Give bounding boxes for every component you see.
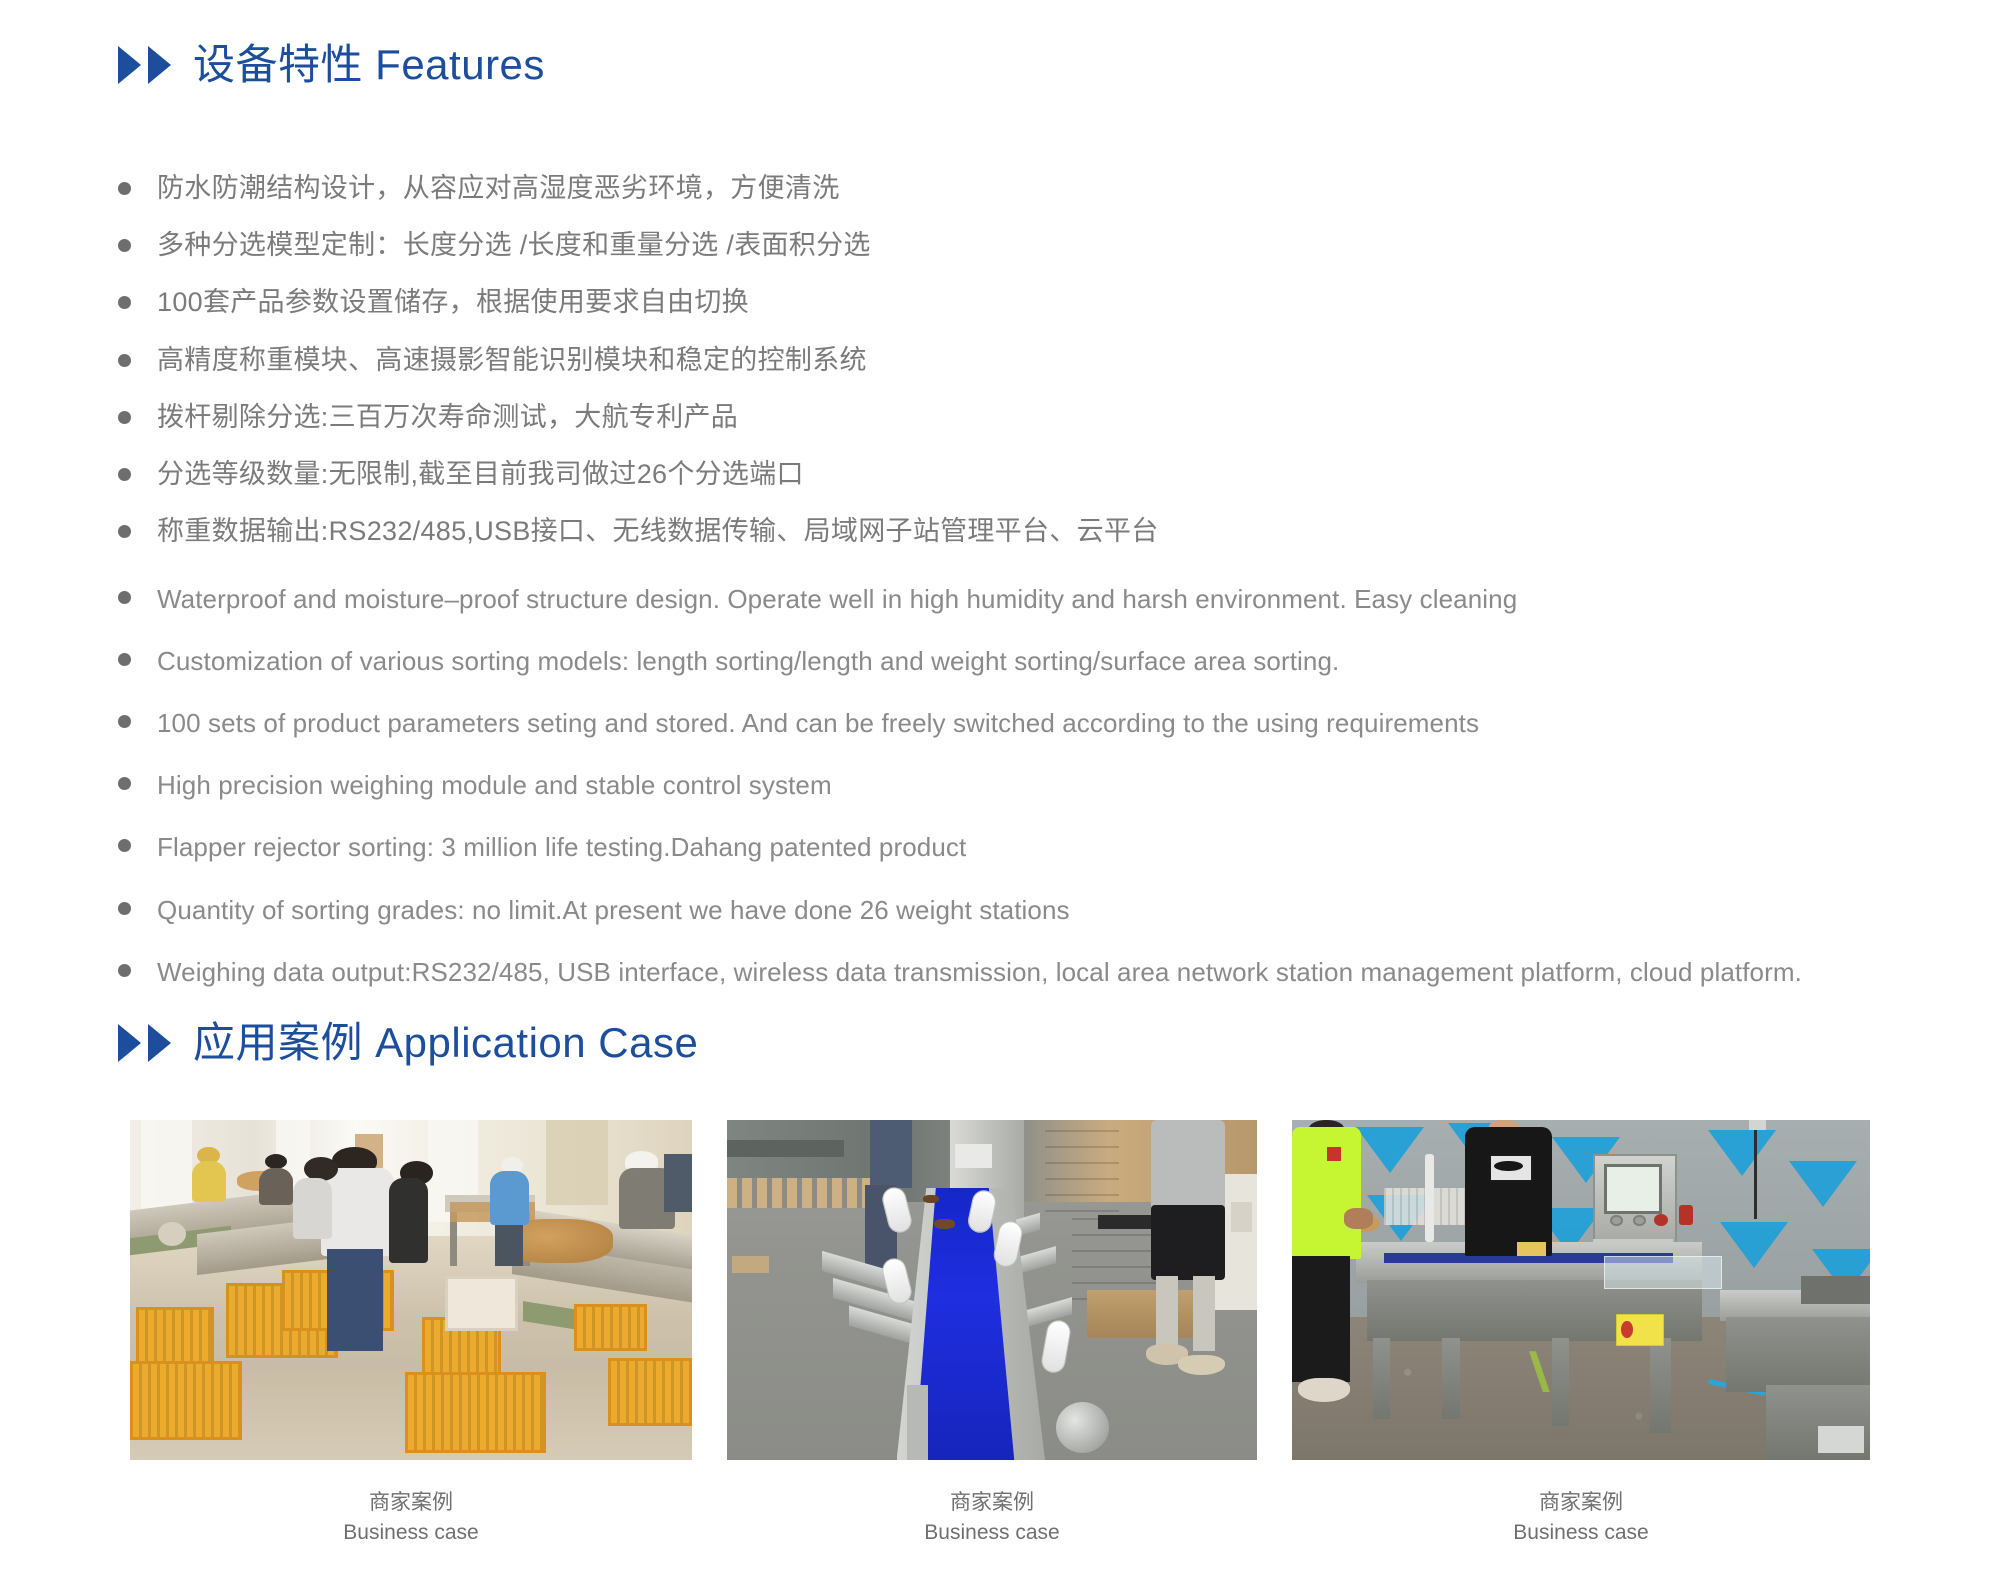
list-item: 分选等级数量:无限制,截至目前我司做过26个分选端口 (118, 456, 1518, 492)
list-item: 100 sets of product parameters seting an… (118, 702, 1808, 744)
bullet-dot-icon (118, 239, 131, 252)
list-item: 100套产品参数设置储存，根据使用要求自由切换 (118, 284, 1518, 320)
case-card[interactable]: 商家案例 Business case (1292, 1120, 1870, 1549)
double-triangle-right-icon (118, 1024, 171, 1062)
list-item: Quantity of sorting grades: no limit.At … (118, 889, 1808, 931)
list-item: 高精度称重模块、高速摄影智能识别模块和稳定的控制系统 (118, 342, 1518, 378)
list-item-label: 100 sets of product parameters seting an… (157, 702, 1808, 744)
bullet-dot-icon (118, 653, 131, 666)
list-item: High precision weighing module and stabl… (118, 764, 1808, 806)
bullet-dot-icon (118, 902, 131, 915)
double-triangle-right-icon (118, 46, 171, 84)
list-item-label: 高精度称重模块、高速摄影智能识别模块和稳定的控制系统 (157, 342, 1518, 378)
list-item: Customization of various sorting models:… (118, 640, 1808, 682)
case-photo-blue-conveyor[interactable] (727, 1120, 1257, 1460)
features-section-heading: 设备特性 Features (118, 44, 545, 86)
bullet-dot-icon (118, 591, 131, 604)
case-photo-steel-sorter[interactable] (1292, 1120, 1870, 1460)
bullet-dot-icon (118, 296, 131, 309)
list-item-label: Flapper rejector sorting: 3 million life… (157, 826, 1808, 868)
list-item: 防水防潮结构设计，从容应对高湿度恶劣环境，方便清洗 (118, 170, 1518, 206)
bullet-dot-icon (118, 411, 131, 424)
application-case-title-text: 应用案例 Application Case (193, 1022, 698, 1064)
case-caption: 商家案例 Business case (343, 1488, 478, 1549)
bullet-dot-icon (118, 354, 131, 367)
case-caption-cn: 商家案例 (924, 1488, 1059, 1518)
list-item-label: Quantity of sorting grades: no limit.At … (157, 889, 1808, 931)
list-item: Weighing data output:RS232/485, USB inte… (118, 951, 1808, 993)
case-caption-cn: 商家案例 (343, 1488, 478, 1518)
list-item: Flapper rejector sorting: 3 million life… (118, 826, 1808, 868)
list-item-label: 分选等级数量:无限制,截至目前我司做过26个分选端口 (157, 456, 1518, 492)
bullet-dot-icon (118, 839, 131, 852)
bullet-dot-icon (118, 715, 131, 728)
features-chinese-bullet-list: 防水防潮结构设计，从容应对高湿度恶劣环境，方便清洗 多种分选模型定制：长度分选 … (118, 170, 1518, 570)
application-case-gallery: 商家案例 Business case (130, 1120, 1870, 1549)
case-caption-cn: 商家案例 (1513, 1488, 1648, 1518)
case-caption-en: Business case (1513, 1518, 1648, 1548)
list-item: Waterproof and moisture–proof structure … (118, 578, 1808, 620)
case-caption: 商家案例 Business case (924, 1488, 1059, 1549)
case-caption-en: Business case (924, 1518, 1059, 1548)
list-item: 多种分选模型定制：长度分选 /长度和重量分选 /表面积分选 (118, 227, 1518, 263)
case-caption: 商家案例 Business case (1513, 1488, 1648, 1549)
list-item-label: 多种分选模型定制：长度分选 /长度和重量分选 /表面积分选 (157, 227, 1518, 263)
list-item-label: 防水防潮结构设计，从容应对高湿度恶劣环境，方便清洗 (157, 170, 1518, 206)
features-title-text: 设备特性 Features (193, 44, 545, 86)
application-case-section-heading: 应用案例 Application Case (118, 1022, 698, 1064)
features-english-bullet-list: Waterproof and moisture–proof structure … (118, 578, 1808, 1013)
list-item-label: High precision weighing module and stabl… (157, 764, 1808, 806)
bullet-dot-icon (118, 182, 131, 195)
list-item-label: Customization of various sorting models:… (157, 640, 1808, 682)
bullet-dot-icon (118, 777, 131, 790)
list-item-label: 拨杆剔除分选:三百万次寿命测试，大航专利产品 (157, 399, 1518, 435)
bullet-dot-icon (118, 525, 131, 538)
case-caption-en: Business case (343, 1518, 478, 1548)
list-item-label: Weighing data output:RS232/485, USB inte… (157, 951, 1808, 993)
list-item-label: 称重数据输出:RS232/485,USB接口、无线数据传输、局域网子站管理平台、… (157, 513, 1518, 549)
bullet-dot-icon (118, 964, 131, 977)
list-item-label: Waterproof and moisture–proof structure … (157, 578, 1808, 620)
list-item-label: 100套产品参数设置储存，根据使用要求自由切换 (157, 284, 1518, 320)
list-item: 拨杆剔除分选:三百万次寿命测试，大航专利产品 (118, 399, 1518, 435)
bullet-dot-icon (118, 468, 131, 481)
case-card[interactable]: 商家案例 Business case (130, 1120, 692, 1549)
case-card[interactable]: 商家案例 Business case (727, 1120, 1257, 1549)
case-photo-sorting-hall[interactable] (130, 1120, 692, 1460)
list-item: 称重数据输出:RS232/485,USB接口、无线数据传输、局域网子站管理平台、… (118, 513, 1518, 549)
